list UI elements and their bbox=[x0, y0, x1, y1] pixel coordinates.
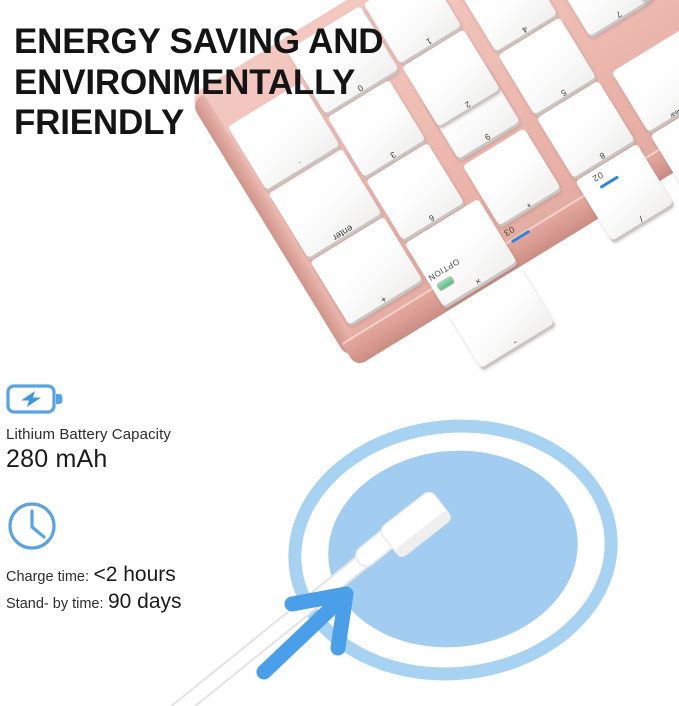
battery-spec: Lithium Battery Capacity 280 mAh bbox=[6, 382, 171, 474]
key-label: 3 bbox=[387, 148, 397, 159]
key-label: × bbox=[472, 273, 483, 286]
standby-time-row: Stand- by time: 90 days bbox=[6, 590, 182, 614]
battery-capacity-value: 280 mAh bbox=[6, 445, 171, 474]
charging-direction-arrow bbox=[250, 576, 380, 686]
time-spec: Charge time: <2 hours Stand- by time: 90… bbox=[6, 500, 182, 614]
product-image: ENERGY SAVING AND ENVIRONMENTALLY FRIEND… bbox=[0, 0, 679, 706]
standby-time-label: Stand- by time: bbox=[6, 596, 104, 612]
key-label: + bbox=[377, 291, 388, 304]
headline-line-3: FRIENDLY bbox=[14, 103, 484, 144]
key-label: - bbox=[510, 335, 519, 346]
charge-time-row: Charge time: <2 hours bbox=[6, 563, 182, 587]
key-label: 4 bbox=[519, 23, 529, 34]
charge-time-label: Charge time: bbox=[6, 569, 89, 585]
headline-line-2: ENVIRONMENTALLY bbox=[14, 63, 484, 104]
key-label: 6 bbox=[426, 211, 436, 222]
key-label: 5 bbox=[558, 86, 568, 97]
key-label: . bbox=[297, 158, 305, 168]
key-label: numlk clear bbox=[667, 94, 679, 118]
standby-time-value: 90 days bbox=[108, 590, 182, 613]
key-label: 8 bbox=[596, 149, 606, 160]
clock-icon bbox=[6, 500, 60, 554]
battery-capacity-label: Lithium Battery Capacity bbox=[6, 426, 171, 443]
battery-charging-icon bbox=[6, 382, 64, 416]
charge-time-value: <2 hours bbox=[93, 563, 175, 586]
key-label: / bbox=[635, 212, 643, 223]
key-label: 7 bbox=[613, 7, 623, 18]
page-title: ENERGY SAVING AND ENVIRONMENTALLY FRIEND… bbox=[14, 22, 484, 144]
headline-line-1: ENERGY SAVING AND bbox=[14, 22, 484, 63]
key-label: * bbox=[522, 196, 531, 208]
key-numlk-clear[interactable]: numlk clear bbox=[612, 27, 679, 132]
